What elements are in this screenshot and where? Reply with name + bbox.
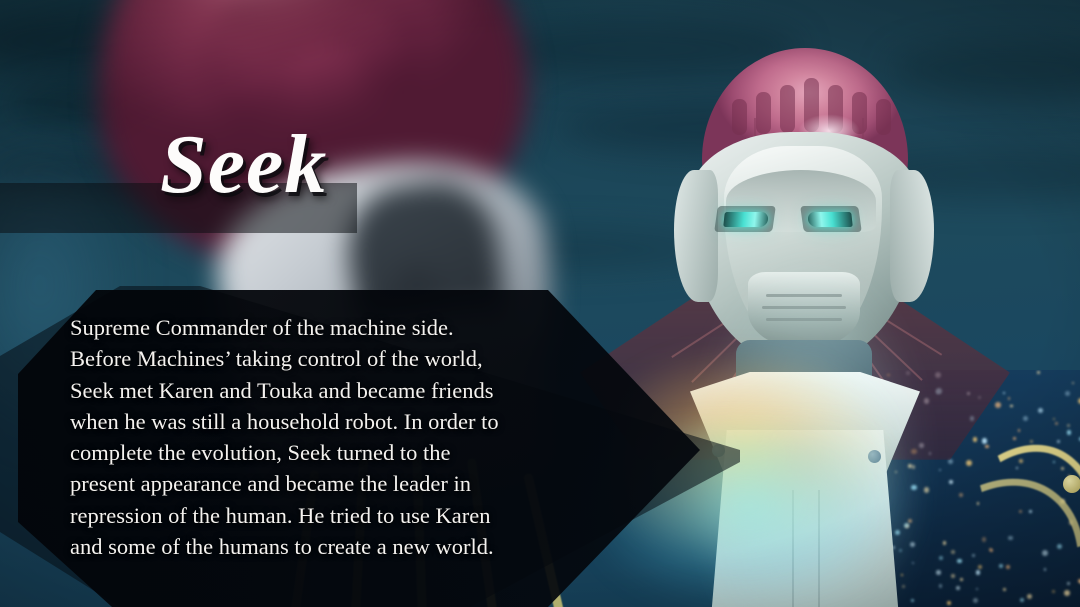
page-title: Seek — [160, 123, 327, 207]
city-light — [973, 437, 978, 442]
city-light — [995, 402, 1001, 408]
robot-eye-left — [723, 212, 769, 227]
dome-stripe — [876, 99, 891, 135]
cable-knob — [1063, 475, 1080, 493]
city-light — [1010, 405, 1012, 407]
city-light — [1037, 371, 1039, 373]
description-text: Supreme Commander of the machine side. B… — [70, 312, 570, 562]
city-light — [1057, 440, 1060, 443]
robot-eye-right — [807, 212, 853, 227]
slide-canvas: Seek Supreme Commander of the machine si… — [0, 0, 1080, 607]
city-light — [1008, 397, 1010, 399]
dome-stripe — [732, 99, 747, 135]
city-light — [982, 438, 988, 444]
city-light — [1055, 422, 1058, 425]
